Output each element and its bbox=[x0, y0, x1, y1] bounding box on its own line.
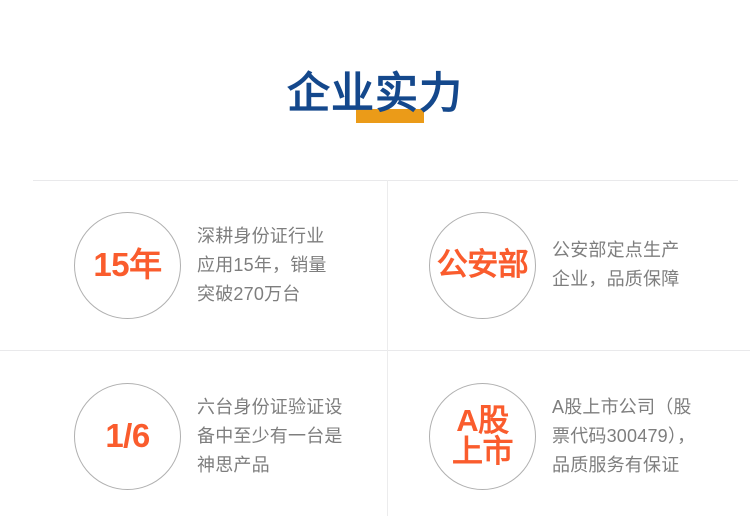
desc-line: 应用15年，销量 bbox=[197, 251, 369, 280]
feature-cell-a-share-listed: A股 上市 A股上市公司（股 票代码300479）， 品质服务有保证 bbox=[388, 351, 740, 521]
desc-line: 品质服务有保证 bbox=[552, 451, 724, 480]
desc-line: 企业，品质保障 bbox=[552, 265, 724, 294]
feature-cell-ministry-public-security: 公安部 公安部定点生产 企业，品质保障 bbox=[388, 180, 740, 350]
badge-circle-15-years: 15年 bbox=[74, 212, 181, 319]
feature-description: 六台身份证验证设 备中至少有一台是 神思产品 bbox=[197, 393, 369, 480]
badge-label-line: 上市 bbox=[452, 436, 513, 467]
feature-cell-one-sixth: 1/6 六台身份证验证设 备中至少有一台是 神思产品 bbox=[33, 351, 385, 521]
page-title: 企业实力 bbox=[0, 66, 750, 122]
badge-circle-one-sixth: 1/6 bbox=[74, 383, 181, 490]
badge-circle-a-share-listed: A股 上市 bbox=[429, 383, 536, 490]
desc-line: 六台身份证验证设 bbox=[197, 393, 369, 422]
desc-line: 突破270万台 bbox=[197, 280, 369, 309]
feature-cell-15-years: 15年 深耕身份证行业 应用15年，销量 突破270万台 bbox=[33, 180, 385, 350]
desc-line: 备中至少有一台是 bbox=[197, 422, 369, 451]
badge-label: 公安部 bbox=[437, 249, 529, 282]
desc-line: 公安部定点生产 bbox=[552, 236, 724, 265]
desc-line: 神思产品 bbox=[197, 451, 369, 480]
desc-line: A股上市公司（股 bbox=[552, 393, 724, 422]
feature-description: 公安部定点生产 企业，品质保障 bbox=[552, 236, 724, 294]
desc-line: 深耕身份证行业 bbox=[197, 222, 369, 251]
section-header: 企业实力 bbox=[0, 0, 750, 180]
badge-label: 15年 bbox=[93, 248, 161, 283]
badge-label: 1/6 bbox=[105, 419, 149, 454]
feature-description: 深耕身份证行业 应用15年，销量 突破270万台 bbox=[197, 222, 369, 309]
badge-label-line: A股 bbox=[452, 405, 513, 436]
feature-grid: 15年 深耕身份证行业 应用15年，销量 突破270万台 公安部 公安部定点生产… bbox=[33, 180, 738, 516]
badge-label: A股 上市 bbox=[452, 405, 513, 467]
badge-circle-ministry-public-security: 公安部 bbox=[429, 212, 536, 319]
feature-description: A股上市公司（股 票代码300479）， 品质服务有保证 bbox=[552, 393, 724, 480]
desc-line: 票代码300479）， bbox=[552, 422, 724, 451]
